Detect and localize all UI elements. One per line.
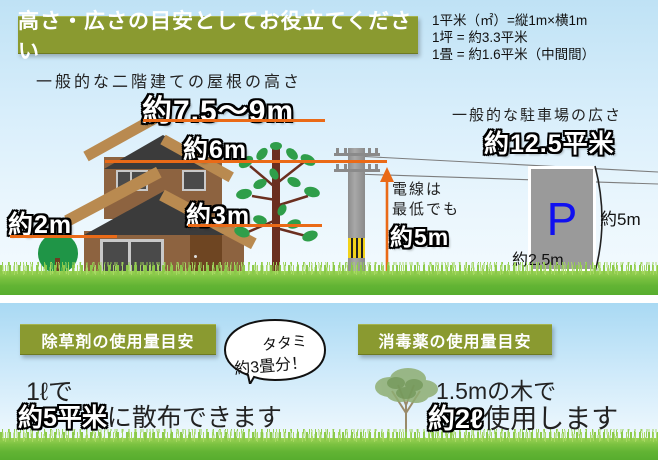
legend-line-3: 1畳 = 約1.6平米（中間間） — [432, 46, 646, 63]
grass-strip-top — [0, 271, 658, 295]
pole-insulator-4 — [375, 148, 378, 154]
pole-insulator-3 — [368, 148, 371, 154]
herbicide-banner: 除草剤の使用量目安 — [20, 324, 216, 355]
parking-height-label: 約5m — [600, 205, 641, 230]
disinfectant-banner: 消毒薬の使用量目安 — [358, 324, 552, 355]
pole-insulator-6 — [344, 164, 347, 170]
herbicide-line2-rest: に散布できます — [107, 404, 282, 432]
utility-pole — [348, 148, 365, 280]
pole-hazard-stripe — [348, 238, 365, 258]
parking-caption: 一般的な駐車場の広さ — [452, 104, 622, 125]
wire-caption-line2: 最低でも — [392, 198, 460, 219]
infographic-canvas: P 約2.5m 約5m 高さ・広さの目安としてお役立てください 1平米（㎡）=縦… — [0, 0, 658, 460]
parking-area-value: 約12.5平米 — [484, 124, 615, 160]
pole-insulator-7 — [368, 164, 371, 170]
herbicide-highlight: 約5平米 — [18, 404, 107, 432]
height-3m-rule — [188, 224, 322, 227]
height-3m-value: 約3m — [186, 196, 250, 232]
disinfectant-line2-rest: 使用します — [483, 404, 618, 434]
roof-height-rule — [143, 119, 325, 122]
legend-line-1: 1平米（㎡）=縦1m×横1m — [432, 12, 646, 29]
roof-height-value: 約7.5〜9m — [142, 86, 294, 130]
unit-legend: 1平米（㎡）=縦1m×横1m 1坪 = 約3.3平米 1畳 = 約1.6平米（中… — [432, 12, 646, 63]
tatami-speech-bubble: タタミ 約3畳分！ — [222, 318, 328, 384]
wire-caption-line1: 電線は — [392, 178, 443, 199]
house-window-upper-right — [182, 170, 206, 191]
wire-height-value: 約5m — [390, 218, 449, 252]
house-door-knob — [194, 255, 197, 258]
grass-strip-bottom — [0, 438, 658, 460]
pole-insulator-2 — [344, 148, 347, 154]
disinfectant-highlight: 約2ℓ — [428, 404, 483, 434]
parking-p-symbol: P — [547, 196, 578, 242]
height-2m-rule — [10, 235, 117, 238]
main-title-banner: 高さ・広さの目安としてお役立てください — [18, 16, 418, 54]
height-6m-rule — [105, 160, 387, 163]
disinfectant-line2: 約2ℓ使用します — [428, 397, 618, 436]
legend-line-2: 1坪 = 約3.3平米 — [432, 29, 646, 46]
herbicide-line2: 約5平米に散布できます — [18, 398, 282, 434]
